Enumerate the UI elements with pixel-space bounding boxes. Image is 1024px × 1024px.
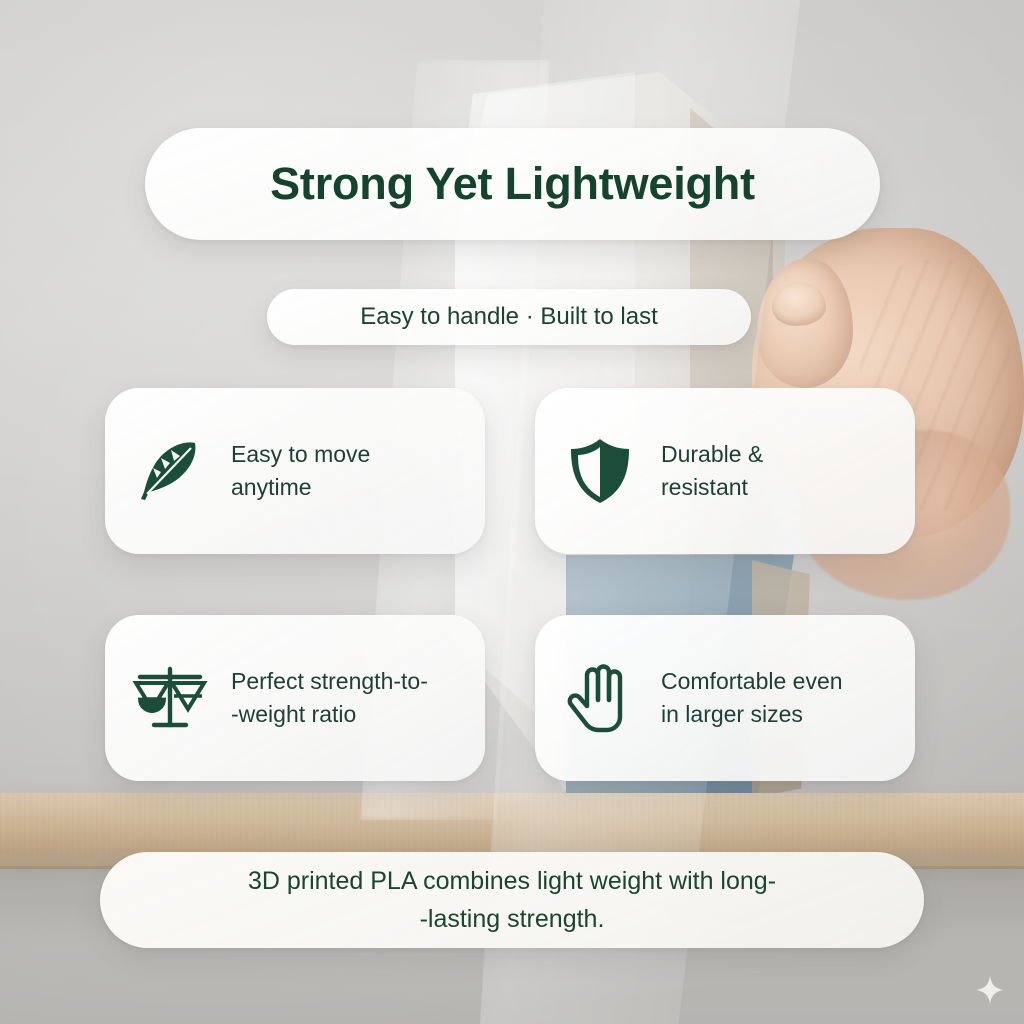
balance-scale-icon xyxy=(131,659,209,737)
footer-caption-banner: 3D printed PLA combines light weight wit… xyxy=(100,852,924,948)
feature-label: Comfortable even in larger sizes xyxy=(661,665,843,731)
title-banner: Strong Yet Lightweight xyxy=(145,128,880,240)
page-subtitle: Easy to handle · Built to last xyxy=(360,303,658,331)
feature-label: Perfect strength-to- -weight ratio xyxy=(231,665,428,731)
feature-card-strength-to-weight: Perfect strength-to- -weight ratio xyxy=(105,615,485,781)
feature-label: Easy to move anytime xyxy=(231,438,370,504)
open-hand-icon xyxy=(561,659,639,737)
subtitle-banner: Easy to handle · Built to last xyxy=(267,289,751,345)
feature-label: Durable & resistant xyxy=(661,438,763,504)
page-title: Strong Yet Lightweight xyxy=(270,158,755,210)
sparkle-icon xyxy=(975,975,1005,1005)
shield-icon xyxy=(561,432,639,510)
feature-card-comfortable-sizes: Comfortable even in larger sizes xyxy=(535,615,915,781)
footer-caption: 3D printed PLA combines light weight wit… xyxy=(208,862,816,938)
feature-card-easy-to-move: Easy to move anytime xyxy=(105,388,485,554)
promo-graphic-canvas: Strong Yet Lightweight Easy to handle · … xyxy=(0,0,1024,1024)
feature-card-durable-resistant: Durable & resistant xyxy=(535,388,915,554)
feather-icon xyxy=(131,432,209,510)
